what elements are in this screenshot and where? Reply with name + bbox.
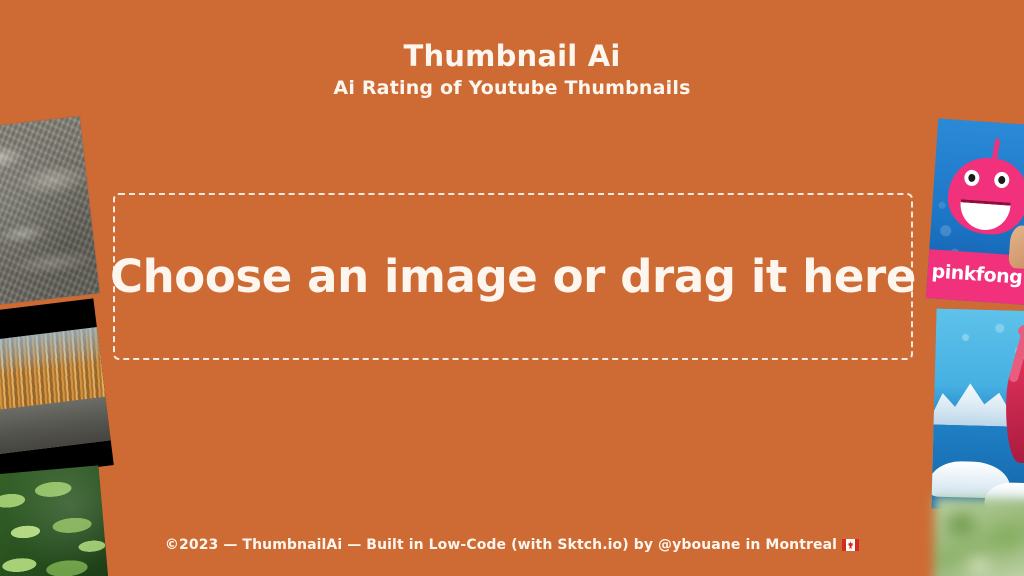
decor-thumbnail-flamingo-icebergs xyxy=(931,309,1024,512)
rock-texture-image xyxy=(0,116,100,306)
page-footer: ©2023 — ThumbnailAi — Built in Low-Code … xyxy=(0,536,1024,554)
decor-thumbnail-bare-trees-road xyxy=(0,298,114,479)
app-root: pinkfong Thumbnail Ai Ai Rating of Youtu… xyxy=(0,0,1024,576)
maple-leaf-icon xyxy=(847,541,854,549)
decor-thumbnail-pinkfong-baby-shark: pinkfong xyxy=(926,118,1024,305)
image-dropzone[interactable]: Choose an image or drag it here xyxy=(113,193,913,360)
decor-thumbnail-green-peas xyxy=(0,465,109,576)
page-title: Thumbnail Ai xyxy=(0,40,1024,73)
footer-credit-text: ©2023 — ThumbnailAi — Built in Low-Code … xyxy=(165,537,837,553)
page-header: Thumbnail Ai Ai Rating of Youtube Thumbn… xyxy=(0,40,1024,100)
green-peas-image xyxy=(0,465,109,576)
page-subtitle: Ai Rating of Youtube Thumbnails xyxy=(0,77,1024,100)
decor-thumbnail-rock-texture xyxy=(0,116,100,306)
canada-flag-icon xyxy=(842,539,859,551)
footer-credit: ©2023 — ThumbnailAi — Built in Low-Code … xyxy=(165,537,859,553)
